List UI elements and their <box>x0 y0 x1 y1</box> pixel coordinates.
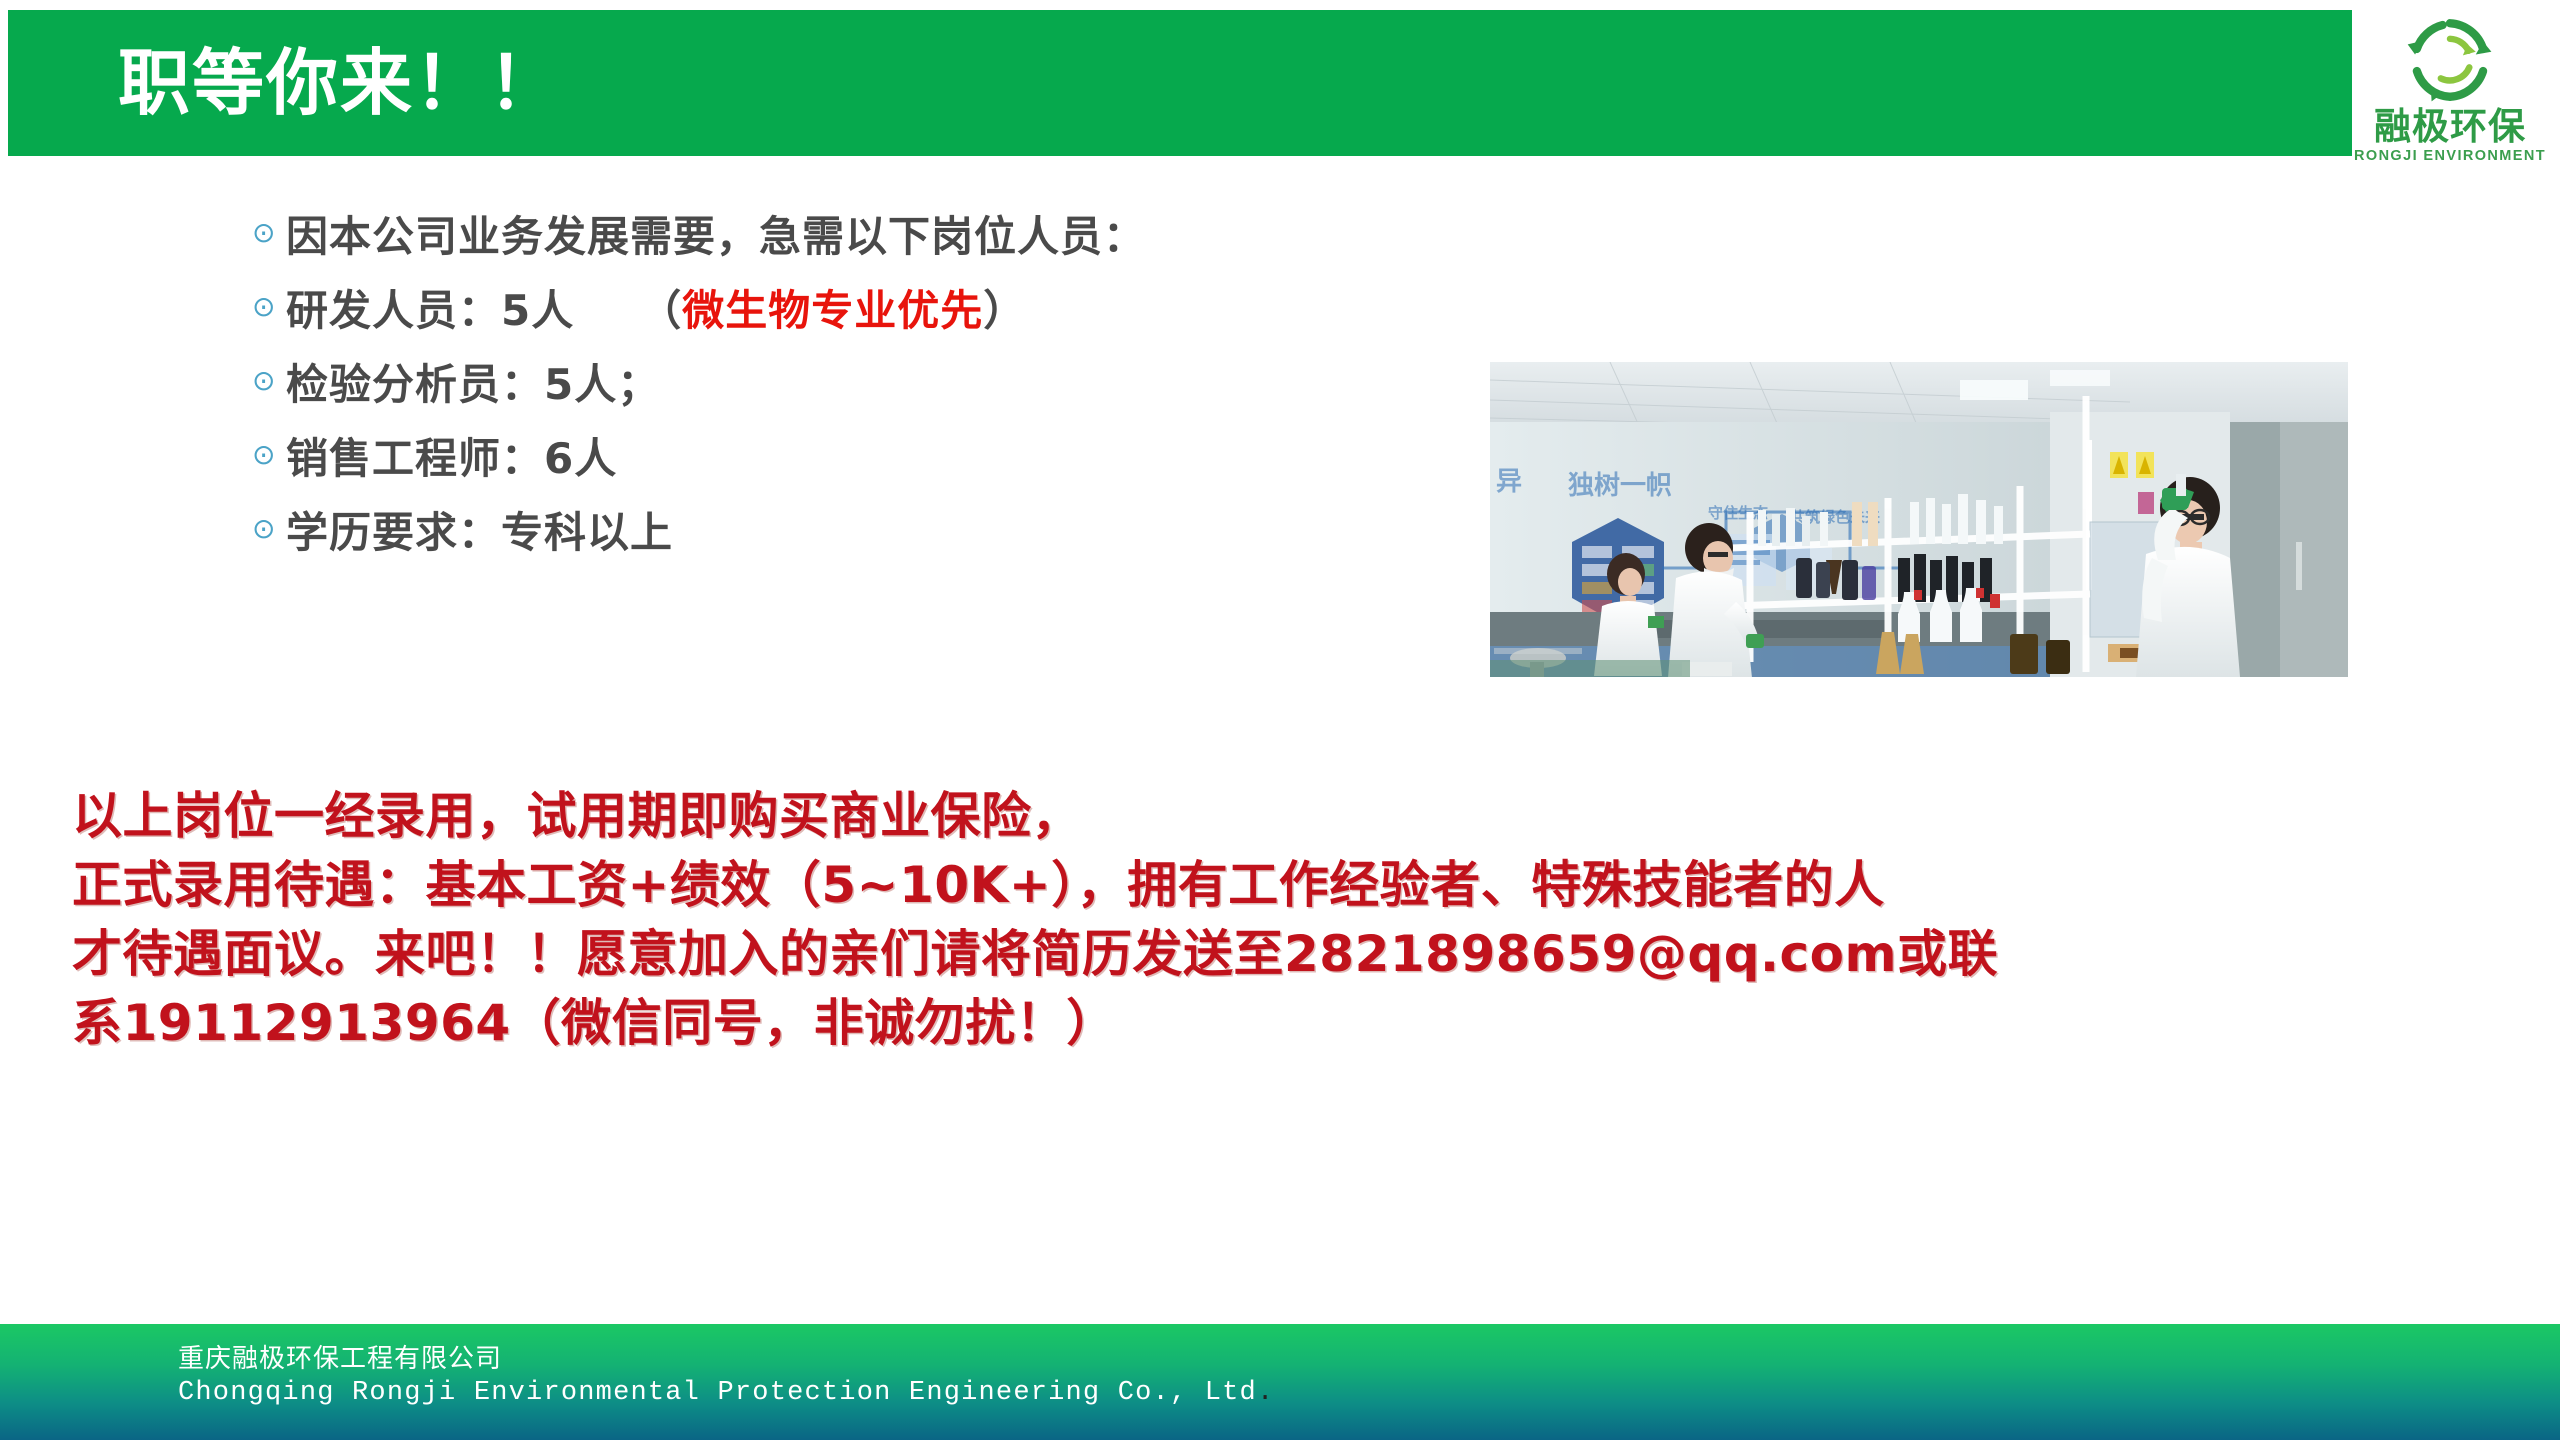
circled-dot-bullet-icon: ⊙ <box>252 515 286 543</box>
bullet-item-label: 研发人员：5人 （微生物专业优先） <box>286 277 1026 338</box>
circled-dot-bullet-icon: ⊙ <box>252 441 286 469</box>
footer-company-name-en-period: . <box>1257 1378 1274 1408</box>
footer-bar: 重庆融极环保工程有限公司 Chongqing Rongji Environmen… <box>0 1324 2560 1440</box>
circled-dot-bullet-icon: ⊙ <box>252 367 286 395</box>
laboratory-photo: 异 独树一帜 守住生态 共筑绿色未来 <box>1490 362 2348 677</box>
recycle-circle-icon <box>2404 14 2496 106</box>
bullet-item-tail: ） <box>983 286 1026 335</box>
page-title: 职等你来！！ <box>118 47 562 119</box>
list-item: ⊙ 因本公司业务发展需要，急需以下岗位人员： <box>252 196 1502 270</box>
list-item: ⊙ 销售工程师：6人 <box>252 418 1502 492</box>
list-item: ⊙ 检验分析员：5人； <box>252 344 1502 418</box>
company-logo: 融极环保 RONGJI ENVIRONMENT <box>2352 8 2548 198</box>
bullet-item-label: 因本公司业务发展需要，急需以下岗位人员： <box>286 203 1146 264</box>
red-paragraph-line: 才待遇面议。来吧！！愿意加入的亲们请将简历发送至2821898659@qq.co… <box>72 920 2492 989</box>
svg-text:异: 异 <box>1496 467 1522 497</box>
svg-text:独树一帜: 独树一帜 <box>1568 471 1672 501</box>
job-bullet-list: ⊙ 因本公司业务发展需要，急需以下岗位人员： ⊙ 研发人员：5人 （微生物专业优… <box>252 196 1502 566</box>
bullet-item-label: 检验分析员：5人； <box>286 351 660 412</box>
list-item: ⊙ 研发人员：5人 （微生物专业优先） <box>252 270 1502 344</box>
logo-name-cn: 融极环保 <box>2374 108 2526 147</box>
footer-company-name-en-text: Chongqing Rongji Environmental Protectio… <box>178 1378 1257 1408</box>
recruitment-details-paragraph: 以上岗位一经录用，试用期即购买商业保险， 正式录用待遇：基本工资+绩效（5~10… <box>72 782 2492 1058</box>
footer-company-name-en: Chongqing Rongji Environmental Protectio… <box>178 1378 1274 1408</box>
footer-company-name-cn: 重庆融极环保工程有限公司 <box>178 1338 502 1375</box>
bullet-item-label-main: 研发人员：5人 （ <box>286 286 682 335</box>
logo-name-en: RONGJI ENVIRONMENT <box>2354 148 2546 164</box>
red-paragraph-line: 以上岗位一经录用，试用期即购买商业保险， <box>72 782 2492 851</box>
circled-dot-bullet-icon: ⊙ <box>252 219 286 247</box>
red-paragraph-line: 系19112913964（微信同号，非诚勿扰！） <box>72 989 2492 1058</box>
title-banner: 职等你来！！ <box>8 10 2505 156</box>
bullet-item-highlight: 微生物专业优先 <box>682 286 983 335</box>
bullet-item-label: 学历要求：专科以上 <box>286 499 673 560</box>
circled-dot-bullet-icon: ⊙ <box>252 293 286 321</box>
bullet-item-label: 销售工程师：6人 <box>286 425 617 486</box>
list-item: ⊙ 学历要求：专科以上 <box>252 492 1502 566</box>
red-paragraph-line: 正式录用待遇：基本工资+绩效（5~10K+），拥有工作经验者、特殊技能者的人 <box>72 851 2492 920</box>
